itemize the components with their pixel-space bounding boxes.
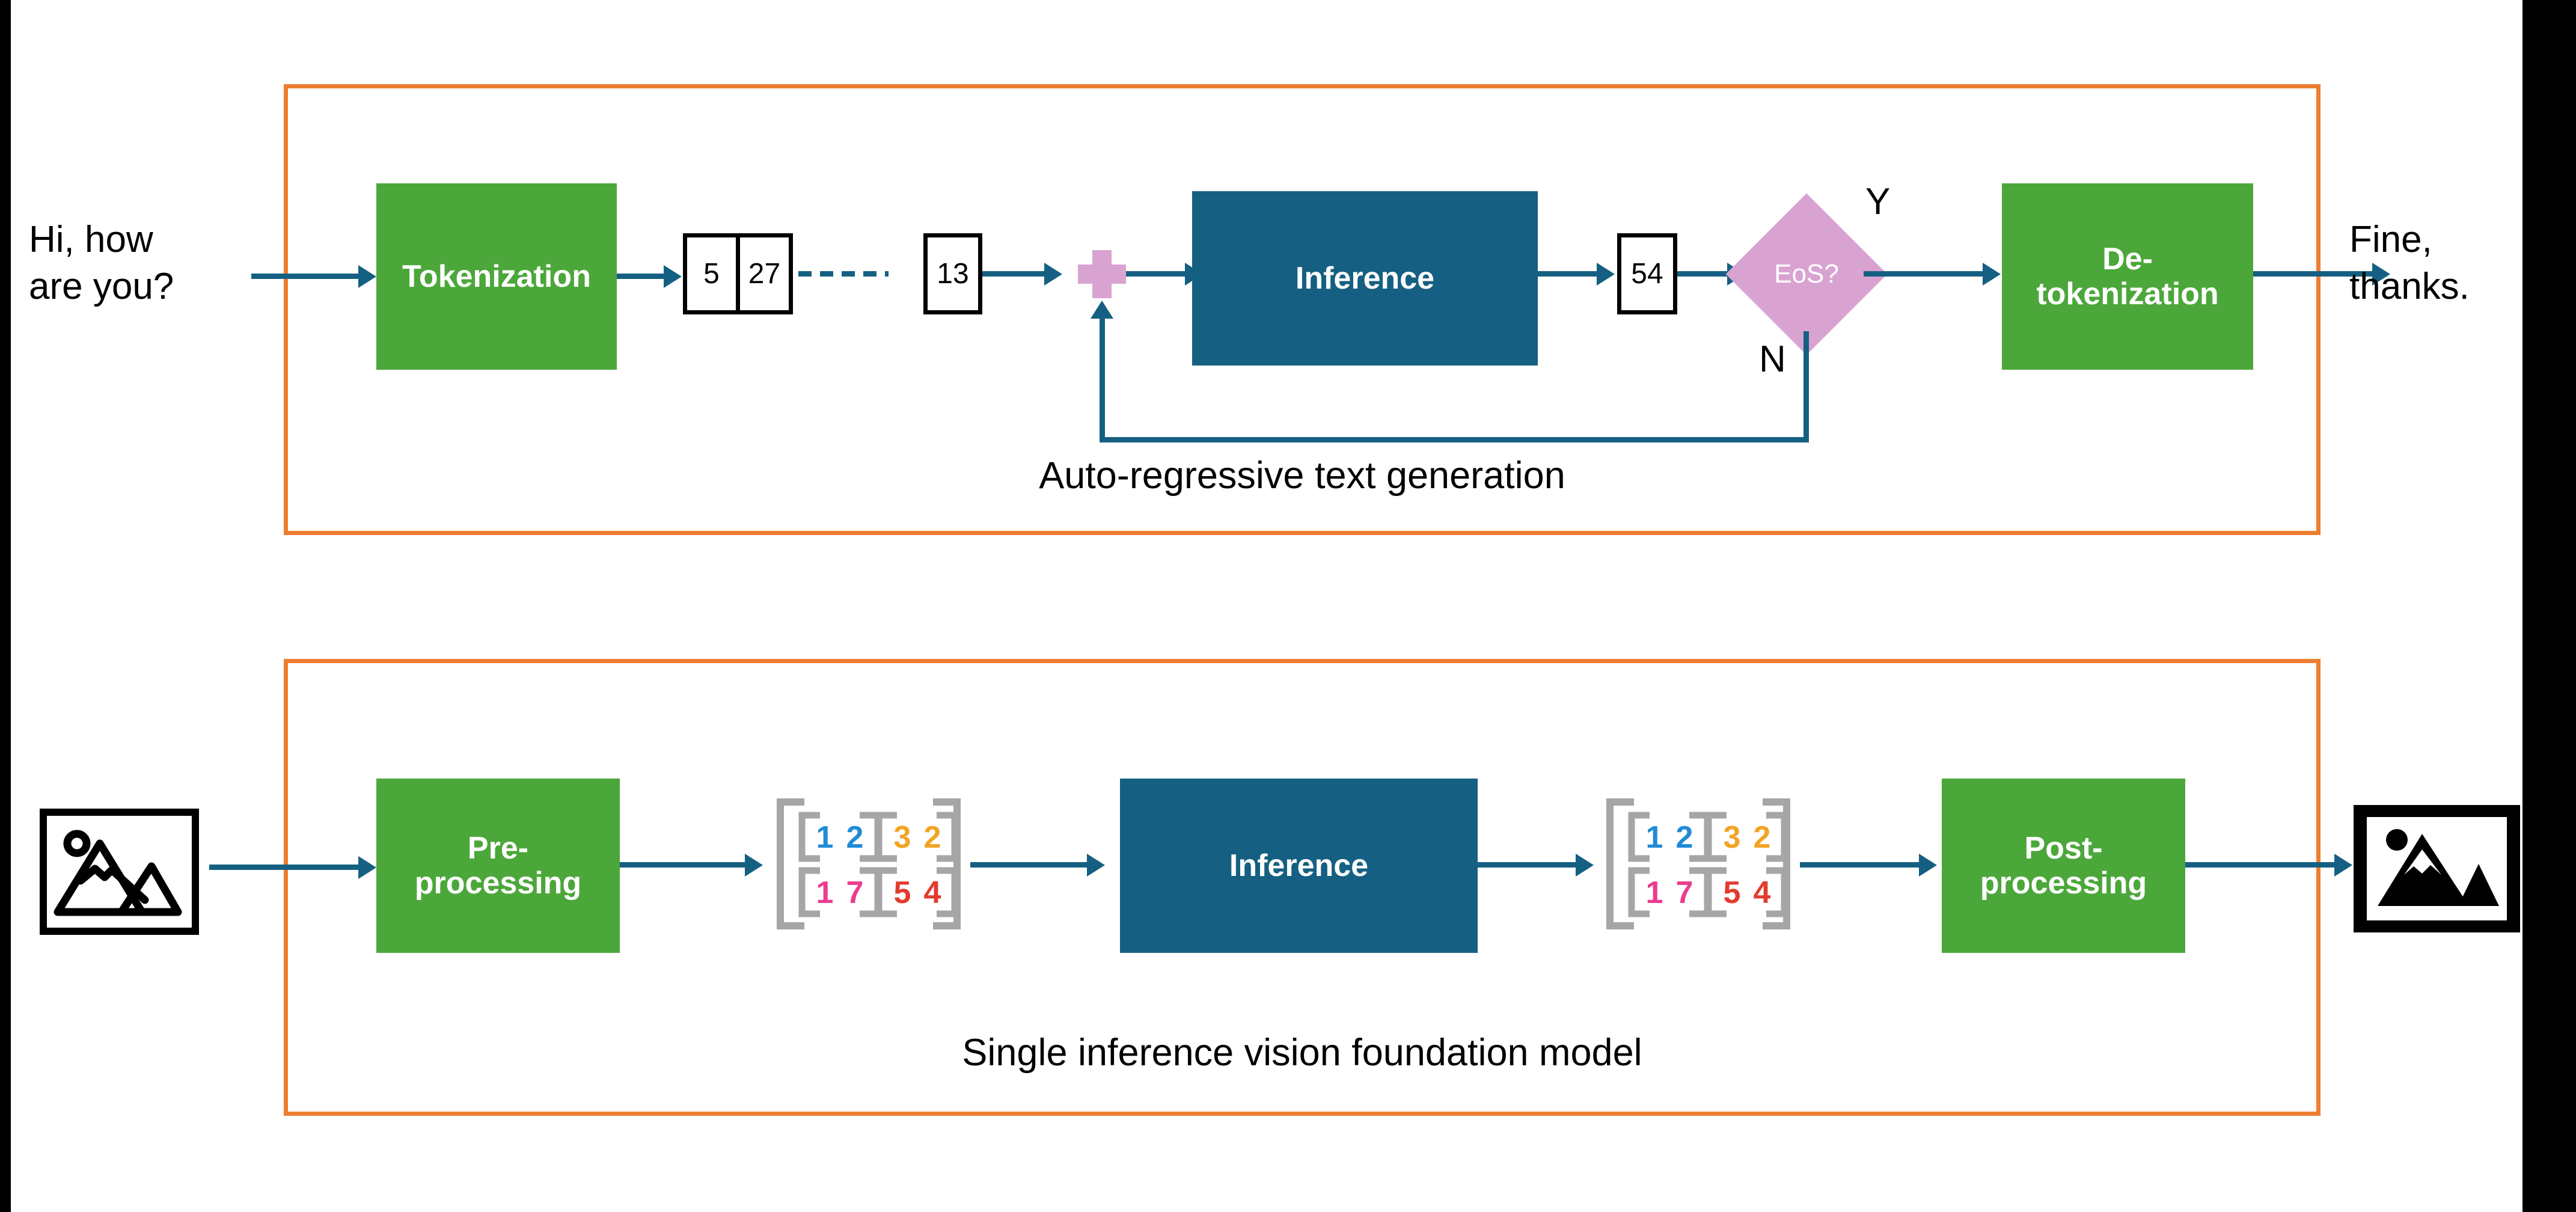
tensor-value: 1 — [1646, 820, 1663, 855]
arrow-image-to-preprocessing-head — [358, 856, 376, 879]
tensor-value: 2 — [924, 820, 941, 855]
box-detokenization[interactable]: De- tokenization — [2002, 183, 2253, 370]
tensor-value: 1 — [1646, 875, 1663, 910]
arrow-inference-to-token-head — [1597, 263, 1615, 286]
branch-label-yes: Y — [1865, 180, 1890, 223]
box-preprocessing[interactable]: Pre- processing — [376, 779, 620, 953]
tensor-value: 2 — [1676, 820, 1693, 855]
box-postprocessing[interactable]: Post- processing — [1942, 779, 2185, 953]
tensor-value: 1 — [816, 820, 834, 855]
plus-horizontal-bar — [1078, 265, 1126, 284]
diagram-canvas: Hi, how are you? Tokenization 5 27 13 In… — [11, 0, 2522, 1212]
arrow-postprocessing-to-image-head — [2334, 854, 2352, 877]
token-cell: 5 — [683, 233, 740, 314]
arrow-preprocessing-to-tensor-head — [745, 854, 763, 877]
tensor-value: 7 — [1676, 875, 1693, 910]
branch-label-no: N — [1759, 338, 1786, 381]
arrow-tokens-to-merge-head — [1044, 263, 1062, 286]
arrow-tokenization-to-tokens-line — [617, 274, 665, 279]
token-cell: 54 — [1617, 233, 1677, 314]
box-tokenization[interactable]: Tokenization — [376, 183, 617, 370]
decision-eos[interactable]: EoS? — [1749, 217, 1864, 331]
box-inference-vision[interactable]: Inference — [1120, 779, 1478, 953]
tensor-value: 4 — [924, 875, 941, 910]
token-cell: 27 — [736, 233, 793, 314]
tensor-value: 4 — [1754, 875, 1771, 910]
token-sequence-input: 5 27 — [683, 233, 793, 314]
arrow-tokenization-to-tokens-head — [664, 265, 682, 288]
token-last: 13 — [923, 233, 982, 314]
tensor-value: 2 — [1754, 820, 1771, 855]
merge-plus-icon — [1078, 250, 1126, 298]
decision-label: EoS? — [1749, 217, 1864, 331]
feedback-loop-arrow-head — [1091, 301, 1113, 319]
arrow-tensor-to-inference-head — [1087, 854, 1105, 877]
arrow-tensor-to-inference-line — [970, 862, 1088, 868]
arrow-tensor2-to-postprocessing-line — [1800, 862, 1920, 868]
arrow-inference-to-token-line — [1538, 271, 1598, 277]
tensor-value: 3 — [1724, 820, 1741, 855]
image-filled-icon — [2351, 803, 2522, 935]
arrow-tokens-to-merge-line — [982, 271, 1045, 277]
token-cell: 13 — [923, 233, 982, 314]
arrow-input-to-tokenization-line — [251, 274, 359, 279]
arrow-postprocessing-to-image-line — [2185, 862, 2336, 868]
token-generated: 54 — [1617, 233, 1677, 314]
arrow-eos-yes-line — [1864, 271, 1984, 277]
arrow-inference-to-tensor2-head — [1576, 854, 1594, 877]
arrow-input-to-tokenization-head — [358, 265, 376, 288]
tensor-value: 5 — [894, 875, 911, 910]
output-text-response: Fine, thanks. — [2349, 216, 2530, 310]
tensor-input: 1 2 3 2 1 7 5 4 — [769, 795, 968, 933]
token-sequence-ellipsis — [798, 271, 889, 277]
tensor-value: 2 — [846, 820, 864, 855]
feedback-loop-across — [1100, 437, 1809, 442]
tensor-value: 1 — [816, 875, 834, 910]
arrow-merge-to-inference-line — [1126, 271, 1186, 277]
arrow-tensor2-to-postprocessing-head — [1919, 854, 1937, 877]
arrow-preprocessing-to-tensor-line — [620, 862, 746, 868]
feedback-loop-up — [1100, 319, 1105, 439]
input-text-prompt: Hi, how are you? — [29, 216, 257, 310]
arrow-eos-yes-head — [1983, 263, 2001, 286]
arrow-inference-to-tensor2-line — [1478, 862, 1577, 868]
caption-vision-foundation: Single inference vision foundation model — [284, 1031, 2321, 1074]
box-inference-text[interactable]: Inference — [1192, 191, 1538, 366]
image-outline-icon — [40, 809, 199, 935]
tensor-output: 1 2 3 2 1 7 5 4 — [1599, 795, 1797, 933]
tensor-value: 3 — [894, 820, 911, 855]
tensor-value: 7 — [846, 875, 864, 910]
caption-auto-regressive: Auto-regressive text generation — [284, 454, 2321, 497]
arrow-token-to-eos-line — [1677, 271, 1728, 277]
arrow-image-to-preprocessing-line — [209, 865, 359, 870]
feedback-loop-down — [1804, 331, 1809, 442]
tensor-value: 5 — [1724, 875, 1741, 910]
